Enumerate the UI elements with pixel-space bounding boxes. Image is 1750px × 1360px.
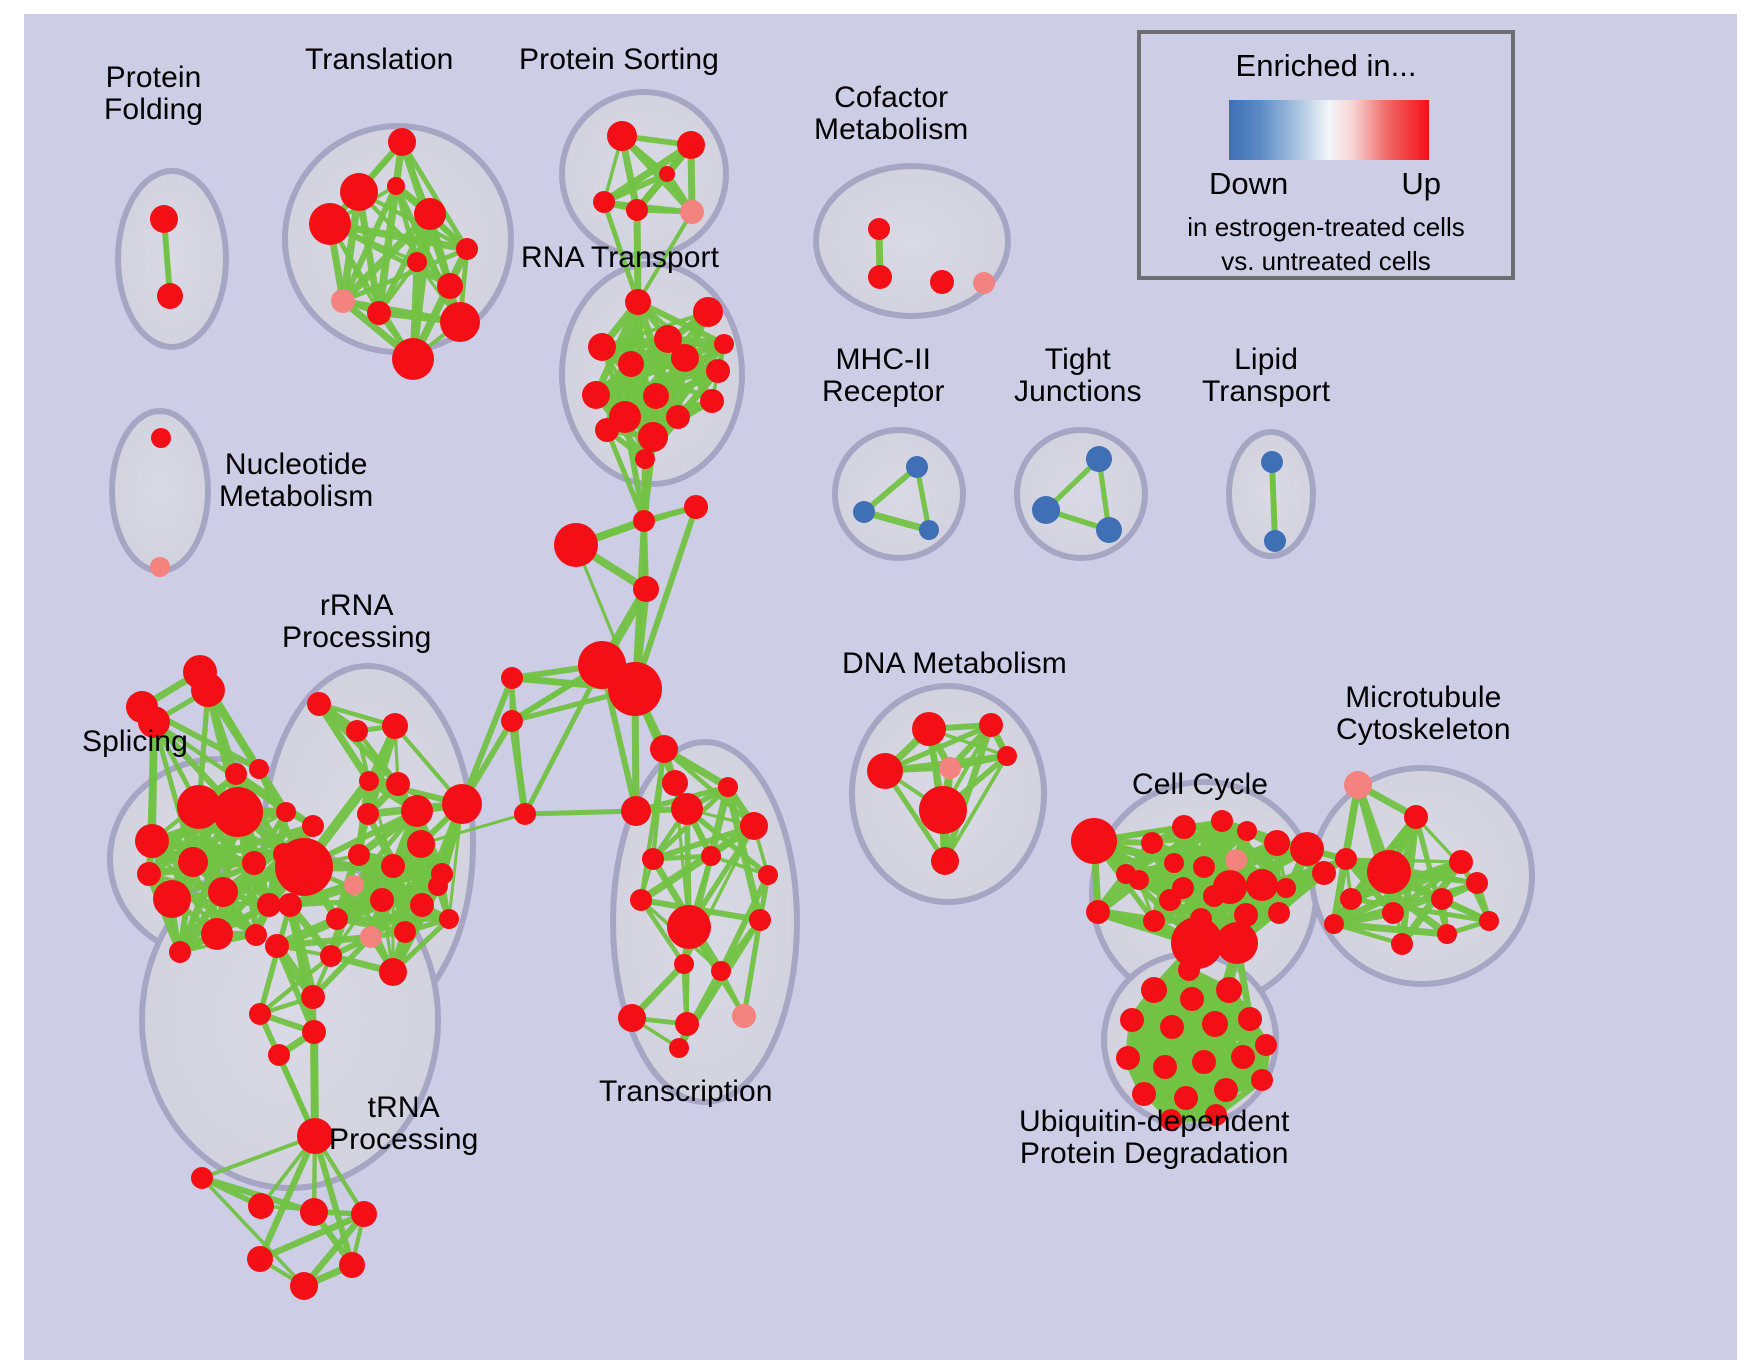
graph-node[interactable] bbox=[1238, 1007, 1262, 1031]
graph-node[interactable] bbox=[638, 422, 668, 452]
graph-node[interactable] bbox=[1141, 977, 1167, 1003]
graph-node[interactable] bbox=[868, 265, 892, 289]
graph-node[interactable] bbox=[1153, 1055, 1177, 1079]
graph-node[interactable] bbox=[582, 381, 610, 409]
graph-node[interactable] bbox=[659, 166, 675, 182]
graph-node[interactable] bbox=[225, 763, 247, 785]
graph-node[interactable] bbox=[1178, 959, 1200, 981]
graph-node[interactable] bbox=[257, 893, 281, 917]
graph-node[interactable] bbox=[247, 1246, 273, 1272]
cluster-hull-tight-junctions[interactable] bbox=[1017, 430, 1145, 558]
graph-node[interactable] bbox=[428, 876, 448, 896]
legend-subtitle-line2: vs. untreated cells bbox=[1141, 246, 1511, 277]
graph-node[interactable] bbox=[1071, 818, 1117, 864]
graph-node[interactable] bbox=[351, 1201, 377, 1227]
graph-node[interactable] bbox=[671, 344, 699, 372]
graph-node[interactable] bbox=[1202, 1011, 1228, 1037]
graph-node[interactable] bbox=[307, 692, 331, 716]
graph-node[interactable] bbox=[740, 812, 768, 840]
graph-node[interactable] bbox=[151, 428, 171, 448]
graph-node[interactable] bbox=[1404, 805, 1428, 829]
graph-node[interactable] bbox=[514, 803, 536, 825]
graph-node[interactable] bbox=[1268, 902, 1290, 924]
graph-node[interactable] bbox=[939, 757, 961, 779]
graph-node[interactable] bbox=[718, 777, 738, 797]
graph-node[interactable] bbox=[208, 877, 238, 907]
graph-node[interactable] bbox=[867, 753, 903, 789]
graph-node[interactable] bbox=[326, 908, 348, 930]
cluster-label-tight-junctions: Tight Junctions bbox=[1014, 344, 1142, 409]
graph-node[interactable] bbox=[268, 1044, 290, 1066]
graph-node[interactable] bbox=[674, 954, 694, 974]
graph-node[interactable] bbox=[456, 238, 478, 260]
graph-node[interactable] bbox=[183, 655, 217, 689]
graph-node[interactable] bbox=[1312, 861, 1336, 885]
graph-node[interactable] bbox=[242, 851, 266, 875]
graph-node[interactable] bbox=[669, 1038, 689, 1058]
graph-node[interactable] bbox=[150, 557, 170, 577]
graph-node[interactable] bbox=[346, 720, 368, 742]
legend-title: Enriched in... bbox=[1141, 48, 1511, 84]
graph-node[interactable] bbox=[1324, 914, 1344, 934]
graph-node[interactable] bbox=[1141, 832, 1163, 854]
graph-node[interactable] bbox=[1231, 1045, 1255, 1069]
graph-node[interactable] bbox=[1367, 850, 1411, 894]
graph-node[interactable] bbox=[340, 173, 378, 211]
graph-node[interactable] bbox=[608, 662, 662, 716]
graph-node[interactable] bbox=[1159, 889, 1181, 911]
graph-node[interactable] bbox=[919, 520, 939, 540]
graph-node[interactable] bbox=[302, 1020, 326, 1044]
graph-node[interactable] bbox=[439, 909, 459, 929]
graph-node[interactable] bbox=[1160, 1015, 1184, 1039]
graph-node[interactable] bbox=[1251, 1069, 1273, 1091]
cluster-label-protein-sorting: Protein Sorting bbox=[519, 44, 719, 76]
graph-node[interactable] bbox=[276, 802, 296, 822]
graph-node[interactable] bbox=[290, 1272, 318, 1300]
graph-node[interactable] bbox=[1437, 924, 1457, 944]
graph-node[interactable] bbox=[275, 838, 333, 896]
graph-node[interactable] bbox=[919, 786, 967, 834]
graph-node[interactable] bbox=[979, 713, 1003, 737]
graph-node[interactable] bbox=[1382, 902, 1404, 924]
graph-node[interactable] bbox=[630, 889, 652, 911]
graph-node[interactable] bbox=[501, 710, 523, 732]
graph-node[interactable] bbox=[1216, 922, 1258, 964]
graph-node[interactable] bbox=[1164, 853, 1184, 873]
cluster-label-ubiquitin-protein-degradation: Ubiquitin-dependent Protein Degradation bbox=[1019, 1106, 1289, 1171]
graph-node[interactable] bbox=[501, 667, 523, 689]
graph-node[interactable] bbox=[1466, 872, 1488, 894]
graph-node[interactable] bbox=[1032, 496, 1060, 524]
cluster-label-protein-folding: Protein Folding bbox=[104, 62, 203, 127]
graph-node[interactable] bbox=[593, 191, 615, 213]
graph-node[interactable] bbox=[667, 905, 711, 949]
graph-node[interactable] bbox=[1171, 917, 1223, 969]
cluster-label-cofactor-metabolism: Cofactor Metabolism bbox=[814, 82, 968, 147]
graph-node[interactable] bbox=[201, 918, 233, 950]
graph-node[interactable] bbox=[973, 272, 995, 294]
graph-node[interactable] bbox=[1096, 517, 1122, 543]
graph-node[interactable] bbox=[1143, 910, 1165, 932]
cluster-hull-mhc-ii-receptor[interactable] bbox=[835, 430, 963, 558]
graph-node[interactable] bbox=[153, 880, 191, 918]
graph-node[interactable] bbox=[693, 297, 723, 327]
graph-node[interactable] bbox=[1246, 869, 1278, 901]
graph-node[interactable] bbox=[706, 359, 730, 383]
graph-node[interactable] bbox=[137, 862, 161, 886]
graph-node[interactable] bbox=[360, 926, 382, 948]
figure-root: Protein FoldingTranslationProtein Sortin… bbox=[0, 0, 1750, 1360]
graph-node[interactable] bbox=[635, 449, 655, 469]
cluster-label-transcription: Transcription bbox=[599, 1076, 773, 1108]
graph-node[interactable] bbox=[662, 770, 688, 796]
graph-node[interactable] bbox=[1237, 821, 1257, 841]
graph-node[interactable] bbox=[666, 405, 690, 429]
graph-node[interactable] bbox=[1086, 446, 1112, 472]
graph-node[interactable] bbox=[407, 830, 435, 858]
graph-node[interactable] bbox=[621, 796, 651, 826]
graph-node[interactable] bbox=[1193, 856, 1215, 878]
graph-node[interactable] bbox=[169, 941, 191, 963]
graph-node[interactable] bbox=[297, 1118, 333, 1154]
graph-node[interactable] bbox=[618, 351, 644, 377]
graph-node[interactable] bbox=[675, 1012, 699, 1036]
graph-node[interactable] bbox=[1431, 888, 1453, 910]
graph-node[interactable] bbox=[1180, 987, 1204, 1011]
graph-node[interactable] bbox=[758, 865, 778, 885]
cluster-label-cell-cycle: Cell Cycle bbox=[1132, 769, 1268, 801]
graph-node[interactable] bbox=[407, 252, 427, 272]
legend-up-label: Up bbox=[1401, 166, 1441, 202]
graph-node[interactable] bbox=[684, 495, 708, 519]
graph-node[interactable] bbox=[701, 846, 721, 866]
cluster-label-trna-processing: tRNA Processing bbox=[329, 1092, 478, 1157]
graph-node[interactable] bbox=[711, 961, 731, 981]
graph-node[interactable] bbox=[344, 875, 364, 895]
cluster-label-mhc-ii-receptor: MHC-II Receptor bbox=[822, 344, 945, 409]
graph-node[interactable] bbox=[309, 203, 351, 245]
graph-node[interactable] bbox=[868, 218, 890, 240]
graph-node[interactable] bbox=[367, 301, 391, 325]
graph-node[interactable] bbox=[278, 893, 302, 917]
graph-node[interactable] bbox=[150, 205, 178, 233]
graph-node[interactable] bbox=[410, 893, 434, 917]
graph-node[interactable] bbox=[302, 815, 324, 837]
graph-node[interactable] bbox=[1172, 815, 1196, 839]
graph-node[interactable] bbox=[595, 418, 619, 442]
graph-node[interactable] bbox=[853, 501, 875, 523]
graph-node[interactable] bbox=[437, 273, 463, 299]
graph-node[interactable] bbox=[401, 795, 433, 827]
graph-node[interactable] bbox=[1192, 1050, 1216, 1074]
graph-node[interactable] bbox=[249, 1003, 271, 1025]
graph-edge bbox=[525, 811, 636, 814]
graph-node[interactable] bbox=[213, 787, 263, 837]
graph-node[interactable] bbox=[386, 772, 410, 796]
graph-node[interactable] bbox=[1086, 900, 1110, 924]
graph-node[interactable] bbox=[906, 456, 928, 478]
graph-node[interactable] bbox=[392, 338, 434, 380]
graph-node[interactable] bbox=[1449, 850, 1473, 874]
graph-node[interactable] bbox=[191, 1167, 213, 1189]
graph-node[interactable] bbox=[249, 759, 269, 779]
graph-node[interactable] bbox=[1116, 1046, 1140, 1070]
graph-node[interactable] bbox=[1290, 832, 1324, 866]
graph-node[interactable] bbox=[248, 1193, 274, 1219]
graph-node[interactable] bbox=[633, 510, 655, 532]
graph-node[interactable] bbox=[245, 924, 267, 946]
graph-node[interactable] bbox=[331, 289, 355, 313]
graph-node[interactable] bbox=[671, 793, 703, 825]
graph-node[interactable] bbox=[1479, 911, 1499, 931]
graph-node[interactable] bbox=[677, 131, 705, 159]
cluster-label-dna-metabolism: DNA Metabolism bbox=[842, 648, 1067, 680]
graph-node[interactable] bbox=[1276, 878, 1296, 898]
graph-node[interactable] bbox=[394, 921, 416, 943]
graph-node[interactable] bbox=[997, 746, 1017, 766]
graph-node[interactable] bbox=[1216, 977, 1242, 1003]
graph-node[interactable] bbox=[1225, 849, 1247, 871]
graph-node[interactable] bbox=[625, 289, 651, 315]
graph-node[interactable] bbox=[265, 934, 289, 958]
graph-node[interactable] bbox=[1261, 451, 1283, 473]
graph-node[interactable] bbox=[1255, 1034, 1277, 1056]
graph-node[interactable] bbox=[732, 1004, 756, 1028]
graph-node[interactable] bbox=[370, 888, 394, 912]
graph-node[interactable] bbox=[618, 1004, 646, 1032]
graph-node[interactable] bbox=[301, 985, 325, 1009]
graph-node[interactable] bbox=[643, 383, 669, 409]
graph-node[interactable] bbox=[414, 198, 446, 230]
cluster-label-rrna-processing: rRNA Processing bbox=[282, 590, 431, 655]
graph-node[interactable] bbox=[680, 200, 704, 224]
graph-node[interactable] bbox=[178, 847, 208, 877]
cluster-hull-protein-folding[interactable] bbox=[118, 171, 226, 347]
graph-node[interactable] bbox=[1116, 864, 1136, 884]
cluster-label-translation: Translation bbox=[305, 44, 453, 76]
graph-node[interactable] bbox=[388, 128, 416, 156]
graph-node[interactable] bbox=[1132, 1082, 1156, 1106]
graph-node[interactable] bbox=[912, 712, 946, 746]
cluster-hull-cofactor-metabolism[interactable] bbox=[816, 166, 1008, 316]
graph-node[interactable] bbox=[126, 691, 158, 723]
graph-node[interactable] bbox=[1211, 810, 1233, 832]
legend-down-label: Down bbox=[1209, 166, 1288, 202]
graph-node[interactable] bbox=[633, 576, 659, 602]
graph-node[interactable] bbox=[1344, 771, 1372, 799]
graph-node[interactable] bbox=[157, 283, 183, 309]
graph-node[interactable] bbox=[382, 713, 408, 739]
graph-node[interactable] bbox=[320, 945, 342, 967]
cluster-label-rna-transport: RNA Transport bbox=[521, 242, 719, 274]
graph-node[interactable] bbox=[607, 121, 637, 151]
graph-node[interactable] bbox=[1203, 885, 1225, 907]
graph-node[interactable] bbox=[1391, 933, 1413, 955]
legend-color-bar bbox=[1229, 100, 1429, 160]
legend-subtitle-line1: in estrogen-treated cells bbox=[1141, 212, 1511, 243]
graph-edge bbox=[1272, 462, 1275, 541]
cluster-label-microtubule-cytoskeleton: Microtubule Cytoskeleton bbox=[1336, 682, 1511, 747]
graph-node[interactable] bbox=[339, 1252, 365, 1278]
graph-node[interactable] bbox=[387, 177, 405, 195]
graph-node[interactable] bbox=[135, 824, 169, 858]
graph-node[interactable] bbox=[379, 958, 407, 986]
graph-node[interactable] bbox=[588, 333, 616, 361]
cluster-label-nucleotide-metabolism: Nucleotide Metabolism bbox=[219, 449, 373, 514]
graph-node[interactable] bbox=[642, 848, 664, 870]
graph-node[interactable] bbox=[300, 1198, 328, 1226]
graph-node[interactable] bbox=[1340, 888, 1362, 910]
graph-node[interactable] bbox=[440, 302, 480, 342]
graph-node[interactable] bbox=[357, 803, 379, 825]
graph-node[interactable] bbox=[348, 844, 370, 866]
graph-node[interactable] bbox=[381, 854, 405, 878]
graph-node[interactable] bbox=[650, 735, 678, 763]
graph-node[interactable] bbox=[1264, 530, 1286, 552]
graph-node[interactable] bbox=[359, 771, 379, 791]
graph-node[interactable] bbox=[714, 334, 734, 354]
graph-node[interactable] bbox=[1214, 1078, 1238, 1102]
graph-node[interactable] bbox=[1120, 1008, 1144, 1032]
cluster-label-lipid-transport: Lipid Transport bbox=[1202, 344, 1330, 409]
legend-panel: Enriched in... Down Up in estrogen-treat… bbox=[1137, 30, 1515, 280]
graph-node[interactable] bbox=[930, 270, 954, 294]
graph-node[interactable] bbox=[931, 847, 959, 875]
graph-edge bbox=[313, 997, 315, 1136]
graph-node[interactable] bbox=[626, 199, 648, 221]
network-canvas: Protein FoldingTranslationProtein Sortin… bbox=[24, 14, 1737, 1360]
graph-node[interactable] bbox=[749, 909, 771, 931]
graph-node[interactable] bbox=[1264, 830, 1290, 856]
graph-node[interactable] bbox=[1335, 848, 1357, 870]
graph-edge bbox=[462, 678, 512, 804]
graph-node[interactable] bbox=[700, 389, 724, 413]
graph-node[interactable] bbox=[442, 784, 482, 824]
graph-node[interactable] bbox=[554, 523, 598, 567]
cluster-label-splicing: Splicing bbox=[82, 726, 188, 758]
